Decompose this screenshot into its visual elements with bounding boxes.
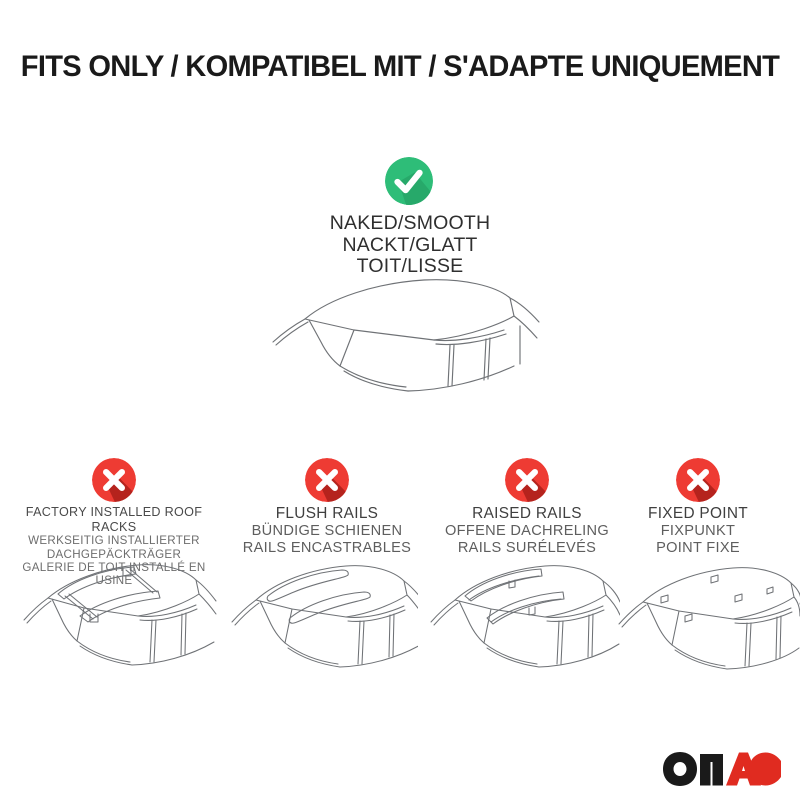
label-line-3: POINT FIXE [617, 540, 779, 557]
logo-letter-c [749, 753, 781, 786]
car-roof-flush-rails-illustration [228, 556, 418, 684]
label-line-3: RAILS SURÉLEVÉS [427, 540, 627, 557]
label-line-1: FIXED POINT [617, 505, 779, 523]
label-line-2: WERKSEITIG INSTALLIERTER [8, 534, 220, 547]
label-line-2: OFFENE DACHRELING [427, 523, 627, 540]
label-line-3: RAILS ENCASTRABLES [227, 540, 427, 557]
approved-label-line-3: TOIT/LISSE [357, 255, 464, 277]
car-roof-naked-smooth-illustration [258, 276, 558, 411]
car-roof-fixed-point-illustration [615, 556, 800, 684]
logo-letter-o [663, 752, 697, 786]
omac-logo [663, 752, 781, 786]
rejected-label-raised-rails: RAISED RAILS OFFENE DACHRELING RAILS SUR… [427, 505, 627, 557]
approved-label-line-1: NAKED/SMOOTH [330, 212, 491, 234]
label-line-2: FIXPUNKT [617, 523, 779, 540]
approved-roof-type-label: NAKED/SMOOTH NACKT/GLATT TOIT/LISSE [280, 213, 540, 278]
red-x-circle-icon [505, 458, 549, 502]
label-line-1: FLUSH RAILS [227, 505, 427, 523]
label-line-2: BÜNDIGE SCHIENEN [227, 523, 427, 540]
page-title: FITS ONLY / KOMPATIBEL MIT / S'ADAPTE UN… [6, 50, 794, 84]
rejected-label-fixed-point: FIXED POINT FIXPUNKT POINT FIXE [617, 505, 779, 557]
label-line-1: RAISED RAILS [427, 505, 627, 523]
red-x-circle-icon [92, 458, 136, 502]
red-x-circle-icon [305, 458, 349, 502]
red-x-circle-icon [676, 458, 720, 502]
approved-label-line-2: NACKT/GLATT [342, 234, 477, 256]
car-roof-factory-rack-illustration [18, 556, 218, 684]
car-roof-raised-rails-illustration [425, 556, 620, 684]
green-check-circle-icon [385, 157, 433, 205]
label-line-1: FACTORY INSTALLED ROOF RACKS [8, 505, 220, 534]
logo-letter-m [700, 754, 723, 786]
rejected-label-flush-rails: FLUSH RAILS BÜNDIGE SCHIENEN RAILS ENCAS… [227, 505, 427, 557]
